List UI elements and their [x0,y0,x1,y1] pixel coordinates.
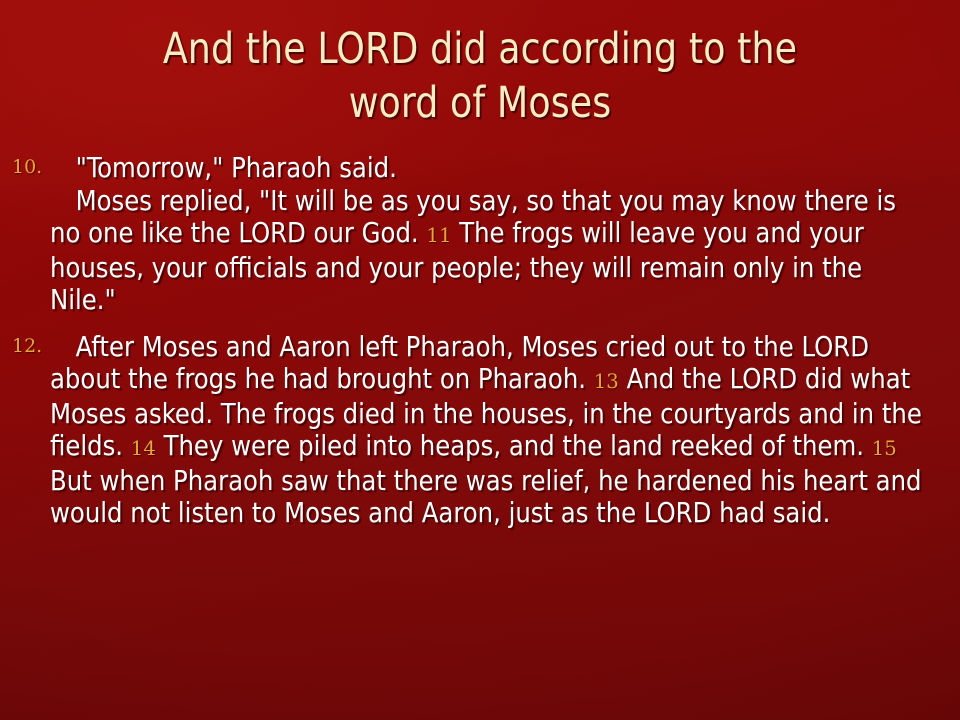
verse-number: 11 [426,223,451,247]
paragraph: "Tomorrow," Pharaoh said. [50,152,923,185]
verse-number: 13 [594,369,619,393]
slide-body-list: 10."Tomorrow," Pharaoh said.Moses replie… [0,152,960,540]
list-item: 12.After Moses and Aaron left Pharaoh, M… [0,331,960,530]
verse-number: 14 [131,436,156,460]
paragraph: After Moses and Aaron left Pharaoh, Mose… [50,331,923,530]
list-item-number: 10. [12,158,42,177]
list-item: 10."Tomorrow," Pharaoh said.Moses replie… [0,152,960,317]
presentation-slide: And the LORD did according to the word o… [0,0,960,720]
slide-content: And the LORD did according to the word o… [0,0,960,720]
paragraph: Moses replied, "It will be as you say, s… [50,185,923,317]
slide-title: And the LORD did according to the word o… [53,22,907,130]
list-item-number: 12. [12,337,42,356]
verse-number: 15 [872,436,897,460]
